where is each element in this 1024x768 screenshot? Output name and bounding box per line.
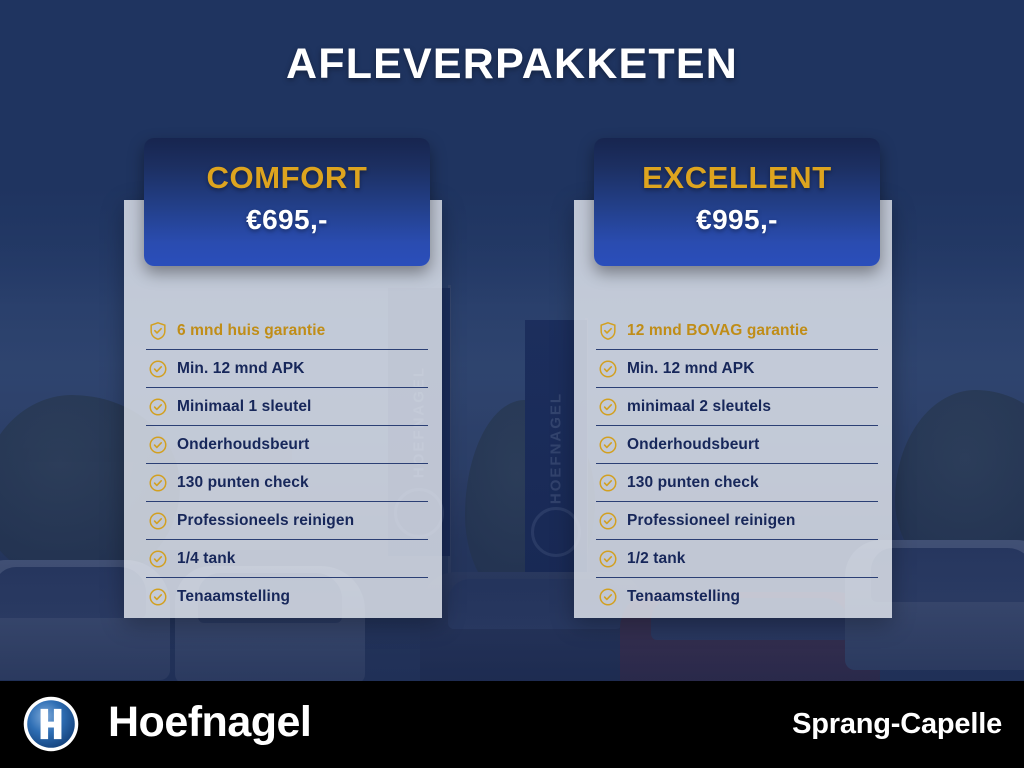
circle-check-icon	[598, 549, 618, 569]
circle-check-icon	[598, 511, 618, 531]
feature-item: Professioneel reinigen	[596, 502, 878, 540]
feature-item: 1/2 tank	[596, 540, 878, 578]
feature-item: Professioneels reinigen	[146, 502, 428, 540]
location-name: Sprang-Capelle	[792, 708, 1002, 741]
feature-label: Professioneel reinigen	[627, 512, 795, 530]
circle-check-icon	[148, 397, 168, 417]
feature-label: Onderhoudsbeurt	[177, 436, 309, 454]
feature-list-comfort: 6 mnd huis garantie Min. 12 mnd APK	[146, 312, 428, 615]
package-price-comfort: €695,-	[144, 204, 430, 236]
shield-check-icon	[148, 321, 168, 341]
feature-label: minimaal 2 sleutels	[627, 398, 771, 416]
circle-check-icon	[598, 435, 618, 455]
feature-label: Min. 12 mnd APK	[627, 360, 755, 378]
circle-check-icon	[598, 397, 618, 417]
feature-label: 1/4 tank	[177, 550, 236, 568]
feature-item: 1/4 tank	[146, 540, 428, 578]
feature-list-excellent: 12 mnd BOVAG garantie Min. 12 mnd APK	[596, 312, 878, 615]
package-price-excellent: €995,-	[594, 204, 880, 236]
feature-label: Professioneels reinigen	[177, 512, 354, 530]
feature-item: 6 mnd huis garantie	[146, 312, 428, 350]
package-card-comfort: COMFORT €695,- 6 mnd huis garantie	[124, 138, 442, 618]
feature-item: Min. 12 mnd APK	[146, 350, 428, 388]
feature-label: 6 mnd huis garantie	[177, 322, 325, 340]
footer-bar: Hoefnagel Sprang-Capelle	[0, 681, 1024, 768]
feature-label: Tenaamstelling	[627, 588, 740, 606]
feature-label: 130 punten check	[177, 474, 309, 492]
poster-stage: HOEFNAGEL HOEFNAGEL AFLEVERPAKKETEN COMF…	[0, 0, 1024, 768]
feature-label: Onderhoudsbeurt	[627, 436, 759, 454]
feature-label: Tenaamstelling	[177, 588, 290, 606]
circle-check-icon	[148, 587, 168, 607]
feature-item: 12 mnd BOVAG garantie	[596, 312, 878, 350]
feature-label: 1/2 tank	[627, 550, 686, 568]
package-header-excellent: EXCELLENT €995,-	[594, 138, 880, 266]
circle-check-icon	[148, 473, 168, 493]
feature-item: minimaal 2 sleutels	[596, 388, 878, 426]
feature-item: Onderhoudsbeurt	[146, 426, 428, 464]
shield-check-icon	[598, 321, 618, 341]
page-title: AFLEVERPAKKETEN	[0, 40, 1024, 89]
package-name-comfort: COMFORT	[144, 160, 430, 196]
circle-check-icon	[148, 359, 168, 379]
feature-item: 130 punten check	[146, 464, 428, 502]
circle-check-icon	[598, 587, 618, 607]
feature-item: 130 punten check	[596, 464, 878, 502]
feature-item: Tenaamstelling	[596, 578, 878, 615]
package-card-excellent: EXCELLENT €995,- 12 mnd BOVAG garantie	[574, 138, 892, 618]
circle-check-icon	[148, 435, 168, 455]
feature-label: Min. 12 mnd APK	[177, 360, 305, 378]
brand-name: Hoefnagel	[108, 698, 311, 747]
circle-check-icon	[148, 549, 168, 569]
feature-label: 12 mnd BOVAG garantie	[627, 322, 808, 340]
package-header-comfort: COMFORT €695,-	[144, 138, 430, 266]
feature-item: Tenaamstelling	[146, 578, 428, 615]
circle-check-icon	[598, 473, 618, 493]
feature-label: 130 punten check	[627, 474, 759, 492]
feature-item: Onderhoudsbeurt	[596, 426, 878, 464]
hoefnagel-logo-icon	[22, 695, 80, 753]
feature-label: Minimaal 1 sleutel	[177, 398, 311, 416]
feature-item: Minimaal 1 sleutel	[146, 388, 428, 426]
feature-item: Min. 12 mnd APK	[596, 350, 878, 388]
circle-check-icon	[148, 511, 168, 531]
package-name-excellent: EXCELLENT	[594, 160, 880, 196]
circle-check-icon	[598, 359, 618, 379]
